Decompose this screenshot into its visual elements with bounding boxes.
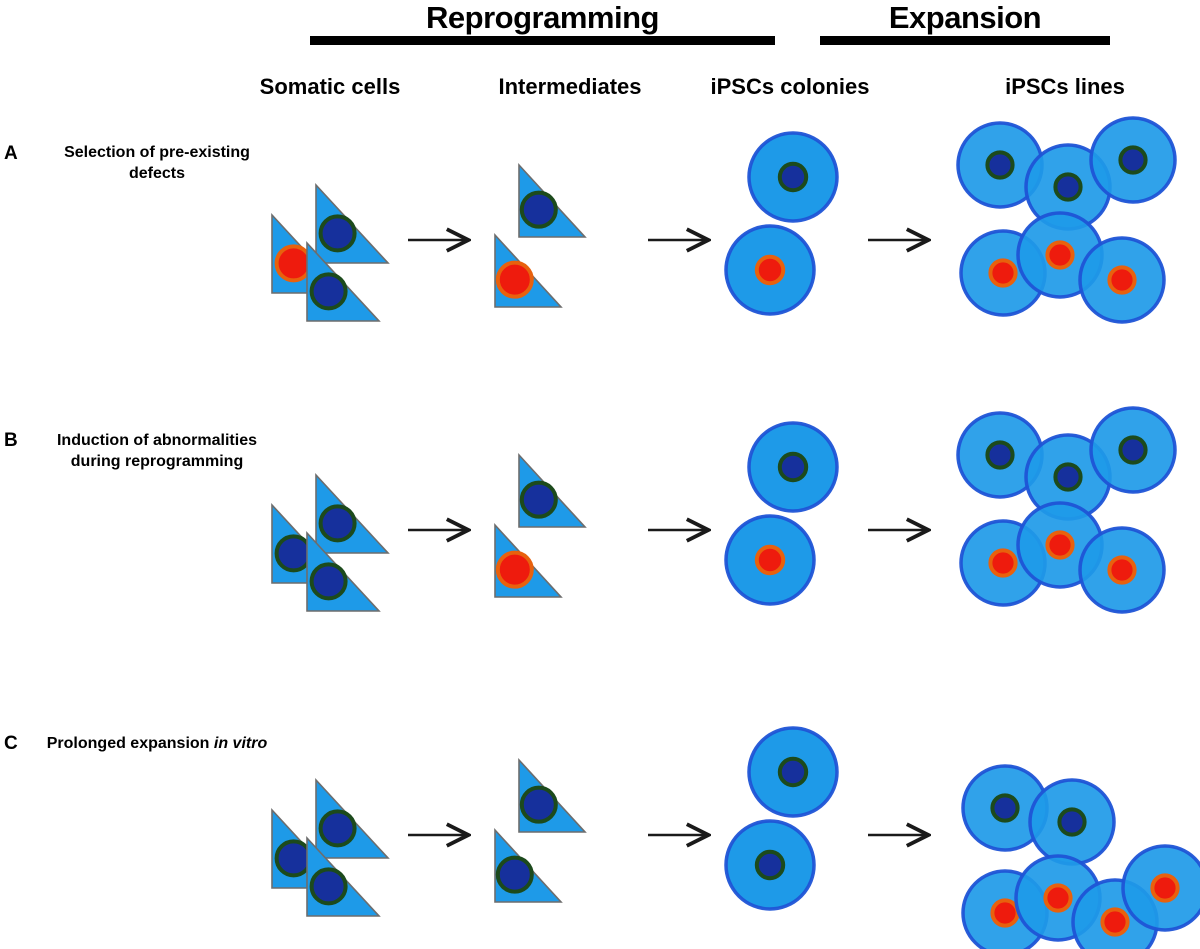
panel-caption-a-line1: Selection of pre-existing [64, 144, 250, 161]
a-line-bot-2 [1018, 213, 1102, 297]
b-line-bot-3 [1080, 528, 1164, 612]
b-line-top-2 [1026, 435, 1110, 519]
c-line-top-1-nucleus-normal [992, 795, 1017, 820]
c-line-bot-1-nucleus-defect [992, 900, 1017, 925]
triangle-nucleus-b-i1-normal [522, 483, 556, 517]
a-line-bot-2-nucleus-defect [1047, 242, 1072, 267]
b-colony-top-nucleus-normal [780, 454, 806, 480]
triangle-nucleus-a-s2-defect [277, 246, 311, 280]
a-line-top-2-nucleus-normal [1055, 174, 1080, 199]
somatic-cell-triangle-c-i2 [495, 830, 561, 902]
panel-caption-a-line2: defects [129, 165, 185, 182]
a-colony-bottom-nucleus-defect [757, 257, 783, 283]
somatic-cell-triangle-b-s2 [272, 505, 344, 583]
c-line-bot-1 [963, 871, 1047, 949]
a-line-bot-1 [961, 231, 1045, 315]
a-line-top-1-nucleus-normal [987, 152, 1012, 177]
panel-letter-c: C [4, 733, 18, 755]
figure-canvas: Reprogramming Expansion Somatic cells In… [0, 0, 1200, 949]
triangle-nucleus-b-s1-normal [321, 506, 355, 540]
panel-caption-b-line1: Induction of abnormalities [57, 432, 257, 449]
triangle-nucleus-b-s3-normal [312, 564, 346, 598]
somatic-cell-triangle-a-s3 [307, 243, 379, 321]
triangle-nucleus-b-i2-defect [498, 553, 532, 587]
a-line-bot-3-nucleus-defect [1109, 267, 1134, 292]
panel-caption-c-line1: Prolonged expansion [47, 735, 210, 752]
column-label-somatic-cells: Somatic cells [210, 74, 450, 100]
triangle-nucleus-a-s1-normal [321, 216, 355, 250]
triangle-nucleus-a-i1-normal [522, 193, 556, 227]
column-label-intermediates: Intermediates [460, 74, 680, 100]
c-line-bot-4 [1123, 846, 1200, 930]
b-line-top-1-nucleus-normal [987, 442, 1012, 467]
column-label-ipsc-lines: iPSCs lines [950, 74, 1180, 100]
c-colony-top [749, 728, 837, 816]
somatic-cell-triangle-b-s1 [316, 475, 388, 553]
a-line-top-1 [958, 123, 1042, 207]
column-label-ipsc-colonies: iPSCs colonies [680, 74, 900, 100]
a-line-bot-3 [1080, 238, 1164, 322]
b-line-bot-2-nucleus-defect [1047, 532, 1072, 557]
phase-bar-expansion [820, 36, 1110, 45]
phase-title-expansion: Expansion [820, 0, 1110, 36]
somatic-cell-triangle-c-s1 [316, 780, 388, 858]
panel-caption-b: Induction of abnormalities during reprog… [32, 430, 282, 472]
somatic-cell-triangle-b-i1 [519, 455, 585, 527]
b-colony-bottom [726, 516, 814, 604]
c-line-bot-2 [1016, 856, 1100, 940]
b-line-top-2-nucleus-normal [1055, 464, 1080, 489]
a-line-top-3 [1091, 118, 1175, 202]
somatic-cell-triangle-c-s3 [307, 838, 379, 916]
panel-caption-b-line2: during reprogramming [71, 453, 243, 470]
panel-caption-c-italic: in vitro [214, 735, 267, 752]
c-line-bot-3 [1073, 880, 1157, 949]
phase-bar-reprogramming [310, 36, 775, 45]
c-line-bot-2-nucleus-defect [1045, 885, 1070, 910]
c-colony-bottom [726, 821, 814, 909]
triangle-nucleus-c-i2-normal [498, 858, 532, 892]
b-line-bot-1-nucleus-defect [990, 550, 1015, 575]
b-line-top-3 [1091, 408, 1175, 492]
triangle-nucleus-a-s3-normal [312, 274, 346, 308]
somatic-cell-triangle-b-s3 [307, 533, 379, 611]
triangle-nucleus-c-i1-normal [522, 788, 556, 822]
somatic-cell-triangle-a-s2 [272, 215, 344, 293]
c-line-top-2-nucleus-normal [1059, 809, 1084, 834]
triangle-nucleus-b-s2-normal [277, 536, 311, 570]
triangle-nucleus-a-i2-defect [498, 263, 532, 297]
a-colony-bottom [726, 226, 814, 314]
somatic-cell-triangle-a-i1 [519, 165, 585, 237]
b-line-bot-2 [1018, 503, 1102, 587]
c-line-top-2 [1030, 780, 1114, 864]
panel-caption-a: Selection of pre-existing defects [32, 142, 282, 184]
b-line-bot-3-nucleus-defect [1109, 557, 1134, 582]
b-line-top-1 [958, 413, 1042, 497]
c-line-top-1 [963, 766, 1047, 850]
b-colony-top [749, 423, 837, 511]
triangle-nucleus-c-s3-normal [312, 869, 346, 903]
somatic-cell-triangle-a-i2 [495, 235, 561, 307]
panel-letter-b: B [4, 430, 18, 452]
c-line-bot-4-nucleus-defect [1152, 875, 1177, 900]
phase-title-reprogramming: Reprogramming [310, 0, 775, 36]
somatic-cell-triangle-a-s1 [316, 185, 388, 263]
b-line-top-3-nucleus-normal [1120, 437, 1145, 462]
triangle-nucleus-c-s2-normal [277, 841, 311, 875]
somatic-cell-triangle-b-i2 [495, 525, 561, 597]
panel-caption-c: Prolonged expansion in vitro [32, 733, 282, 754]
triangle-nucleus-c-s1-normal [321, 811, 355, 845]
b-line-bot-1 [961, 521, 1045, 605]
b-colony-bottom-nucleus-defect [757, 547, 783, 573]
c-line-bot-3-nucleus-defect [1102, 909, 1127, 934]
panel-letter-a: A [4, 143, 18, 165]
c-colony-bottom-nucleus-normal [757, 852, 783, 878]
somatic-cell-triangle-c-i1 [519, 760, 585, 832]
a-colony-top [749, 133, 837, 221]
a-line-bot-1-nucleus-defect [990, 260, 1015, 285]
c-colony-top-nucleus-normal [780, 759, 806, 785]
somatic-cell-triangle-c-s2 [272, 810, 344, 888]
a-line-top-3-nucleus-normal [1120, 147, 1145, 172]
a-line-top-2 [1026, 145, 1110, 229]
a-colony-top-nucleus-normal [780, 164, 806, 190]
